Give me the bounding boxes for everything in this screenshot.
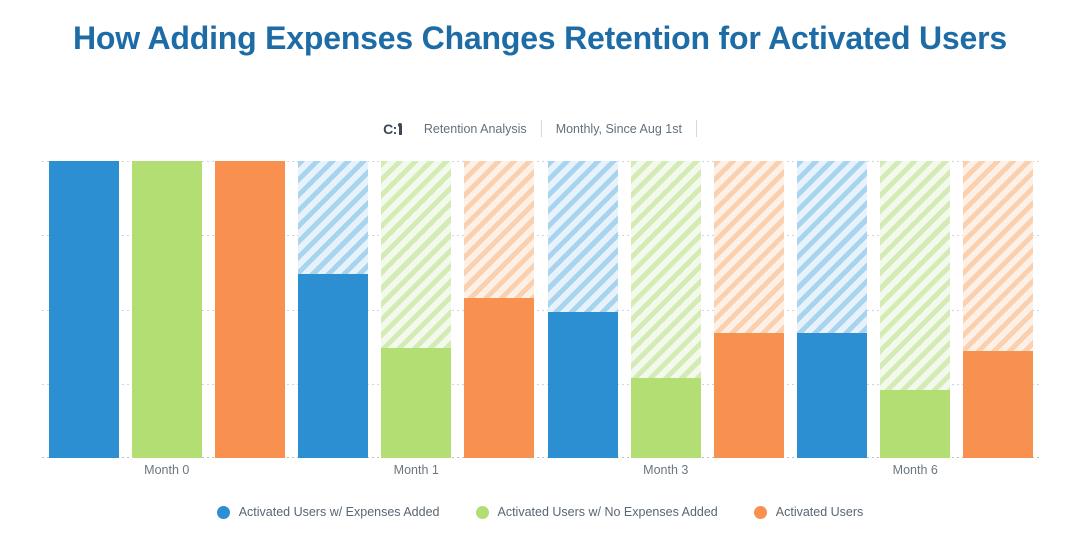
bar-blue-month-6[interactable] bbox=[797, 161, 867, 458]
bar-group-month-1 bbox=[292, 161, 542, 458]
bar-orange-month-0[interactable] bbox=[215, 161, 285, 458]
bar-solid-orange[interactable] bbox=[215, 161, 285, 458]
bar-blue-month-0[interactable] bbox=[49, 161, 119, 458]
legend-item-green[interactable]: Activated Users w/ No Expenses Added bbox=[476, 505, 718, 519]
bar-slot bbox=[624, 161, 707, 458]
bar-solid-green[interactable] bbox=[381, 348, 451, 458]
x-axis-labels: Month 0Month 1Month 3Month 6 bbox=[42, 463, 1040, 483]
bar-slot bbox=[707, 161, 790, 458]
bar-slot bbox=[458, 161, 541, 458]
breadcrumb-divider bbox=[696, 120, 697, 137]
legend-item-blue[interactable]: Activated Users w/ Expenses Added bbox=[217, 505, 440, 519]
legend-dot-icon bbox=[476, 506, 489, 519]
legend-label: Activated Users w/ No Expenses Added bbox=[498, 505, 718, 519]
chart-subheader: C: Retention Analysis Monthly, Since Aug… bbox=[0, 120, 1080, 137]
bar-blue-month-3[interactable] bbox=[548, 161, 618, 458]
bar-slot bbox=[292, 161, 375, 458]
legend-dot-icon bbox=[754, 506, 767, 519]
bar-green-month-0[interactable] bbox=[132, 161, 202, 458]
bar-group-month-6 bbox=[791, 161, 1041, 458]
legend-item-orange[interactable]: Activated Users bbox=[754, 505, 864, 519]
page-title: How Adding Expenses Changes Retention fo… bbox=[40, 18, 1040, 58]
chart-page: How Adding Expenses Changes Retention fo… bbox=[0, 0, 1080, 543]
breadcrumb-retention-analysis[interactable]: Retention Analysis bbox=[410, 122, 541, 136]
x-axis-label-month-0: Month 0 bbox=[42, 463, 292, 483]
bar-green-month-3[interactable] bbox=[631, 161, 701, 458]
bar-slot bbox=[208, 161, 291, 458]
bar-groups bbox=[42, 161, 1040, 458]
chart-legend: Activated Users w/ Expenses AddedActivat… bbox=[0, 505, 1080, 519]
bar-group-month-3 bbox=[541, 161, 791, 458]
bar-slot bbox=[42, 161, 125, 458]
bar-orange-month-6[interactable] bbox=[963, 161, 1033, 458]
bar-solid-orange[interactable] bbox=[464, 298, 534, 458]
bar-slot bbox=[125, 161, 208, 458]
bar-slot bbox=[375, 161, 458, 458]
bar-orange-month-3[interactable] bbox=[714, 161, 784, 458]
person-icon bbox=[398, 123, 403, 135]
bar-solid-blue[interactable] bbox=[797, 333, 867, 458]
x-axis-label-month-1: Month 1 bbox=[292, 463, 542, 483]
legend-label: Activated Users w/ Expenses Added bbox=[239, 505, 440, 519]
bar-green-month-6[interactable] bbox=[880, 161, 950, 458]
bar-solid-blue[interactable] bbox=[298, 274, 368, 458]
bar-orange-month-1[interactable] bbox=[464, 161, 534, 458]
chartio-logo: C: bbox=[383, 121, 403, 137]
bar-green-month-1[interactable] bbox=[381, 161, 451, 458]
bar-solid-orange[interactable] bbox=[963, 351, 1033, 458]
bar-blue-month-1[interactable] bbox=[298, 161, 368, 458]
chart-plot-area bbox=[42, 161, 1040, 458]
legend-label: Activated Users bbox=[776, 505, 864, 519]
bar-solid-blue[interactable] bbox=[49, 161, 119, 458]
bar-solid-blue[interactable] bbox=[548, 312, 618, 458]
bar-slot bbox=[874, 161, 957, 458]
bar-slot bbox=[957, 161, 1040, 458]
bar-solid-green[interactable] bbox=[631, 378, 701, 458]
x-axis-label-month-3: Month 3 bbox=[541, 463, 791, 483]
x-axis-label-month-6: Month 6 bbox=[791, 463, 1041, 483]
bar-group-month-0 bbox=[42, 161, 292, 458]
legend-dot-icon bbox=[217, 506, 230, 519]
bar-slot bbox=[541, 161, 624, 458]
bar-slot bbox=[791, 161, 874, 458]
bar-solid-green[interactable] bbox=[880, 390, 950, 458]
bar-solid-orange[interactable] bbox=[714, 333, 784, 458]
breadcrumb-date-range[interactable]: Monthly, Since Aug 1st bbox=[542, 122, 696, 136]
logo-text: C: bbox=[383, 121, 397, 137]
bar-solid-green[interactable] bbox=[132, 161, 202, 458]
